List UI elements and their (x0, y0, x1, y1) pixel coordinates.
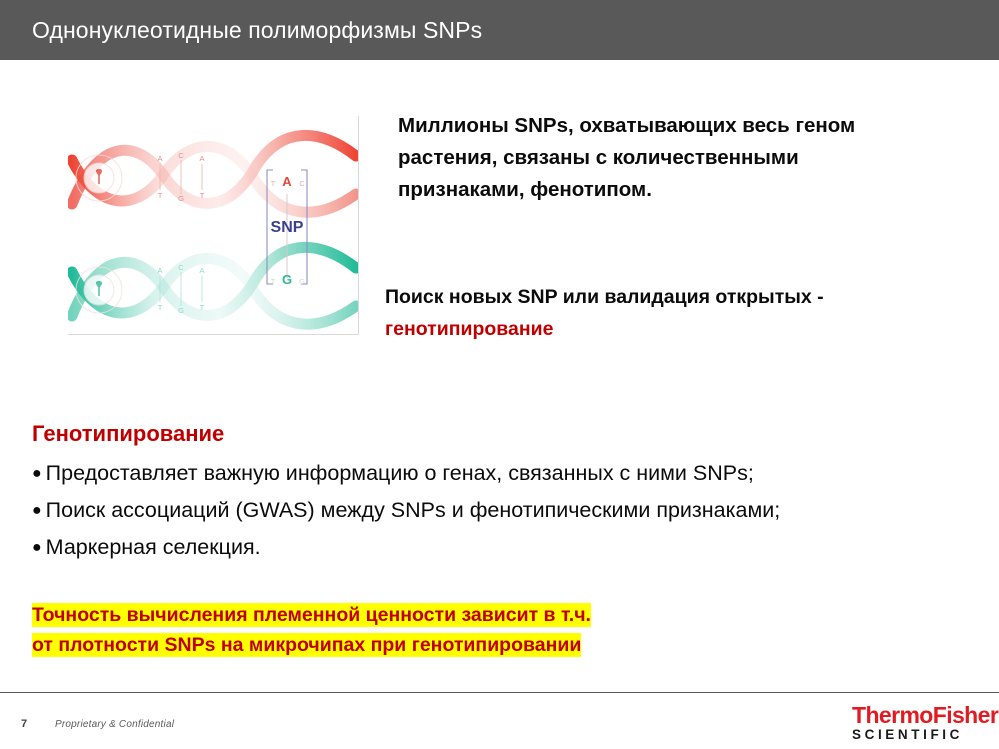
genotyping-bullet-list: ●Предоставляет важную информацию о генах… (32, 455, 972, 566)
thermo-fisher-logo: ThermoFisher SCIENTIFIC (852, 703, 987, 743)
list-item: ●Маркерная селекция. (32, 529, 972, 566)
snp-allele-top: A (282, 174, 292, 189)
slide-header-bar: Однонуклеотидные полиморфизмы SNPs (0, 0, 999, 60)
confidential-notice: Proprietary & Confidential (55, 719, 174, 730)
snp-flank-bottom-left: T (271, 277, 276, 286)
list-item-label: Поиск ассоциаций (GWAS) между SNPs и фен… (46, 498, 781, 522)
search-validation-paragraph: Поиск новых SNP или валидация открытых -… (385, 281, 885, 345)
snp-flank-top-right: C (299, 179, 305, 188)
snp-flank-bottom-right: G (299, 277, 305, 286)
list-item: ●Поиск ассоциаций (GWAS) между SNPs и фе… (32, 492, 972, 529)
dna-helix-svg: ACA TGT ACA TGT (68, 116, 358, 334)
svg-text:T: T (200, 191, 205, 200)
search-paragraph-prefix: Поиск новых SNP или валидация открытых - (385, 286, 824, 308)
note-line-2-wrapper: от плотности SNPs на микрочипах при гено… (32, 630, 792, 660)
logo-wordmark: ThermoFisher (852, 703, 987, 727)
note-line-1: Точность вычисления племенной ценности з… (32, 603, 591, 627)
logo-word-fisher: Fisher (933, 702, 998, 728)
note-line-2: от плотности SNPs на микрочипах при гено… (32, 633, 581, 657)
genotyping-heading: Генотипирование (32, 421, 224, 447)
snp-flank-top-left: T (271, 179, 276, 188)
bullet-marker-icon: ● (32, 502, 46, 519)
genotyping-accent-word: генотипирование (385, 318, 553, 340)
highlighted-note: Точность вычисления племенной ценности з… (32, 600, 792, 660)
svg-text:A: A (157, 266, 162, 275)
list-item-label: Предоставляет важную информацию о генах,… (46, 461, 754, 485)
svg-text:C: C (178, 151, 184, 160)
page-title: Однонуклеотидные полиморфизмы SNPs (32, 17, 482, 44)
bullet-marker-icon: ● (32, 539, 46, 556)
logo-subtitle: SCIENTIFIC (852, 727, 987, 743)
svg-text:A: A (199, 154, 204, 163)
svg-text:C: C (178, 263, 184, 272)
svg-text:T: T (158, 303, 163, 312)
svg-text:G: G (178, 306, 184, 315)
list-item: ●Предоставляет важную информацию о генах… (32, 455, 972, 492)
svg-text:T: T (200, 303, 205, 312)
dna-snp-illustration: ACA TGT ACA TGT (68, 116, 359, 335)
note-line-1-wrapper: Точность вычисления племенной ценности з… (32, 600, 792, 630)
svg-text:T: T (158, 191, 163, 200)
bullet-marker-icon: ● (32, 465, 46, 482)
list-item-label: Маркерная селекция. (46, 535, 261, 559)
svg-text:A: A (199, 266, 204, 275)
logo-word-thermo: Thermo (852, 702, 933, 728)
page-number: 7 (21, 718, 27, 730)
footer-divider (0, 692, 999, 693)
svg-text:G: G (178, 194, 184, 203)
intro-paragraph: Миллионы SNPs, охватывающих весь геном р… (398, 110, 888, 206)
snp-label: SNP (271, 219, 304, 236)
svg-text:A: A (157, 154, 162, 163)
snp-allele-bottom: G (282, 272, 292, 287)
